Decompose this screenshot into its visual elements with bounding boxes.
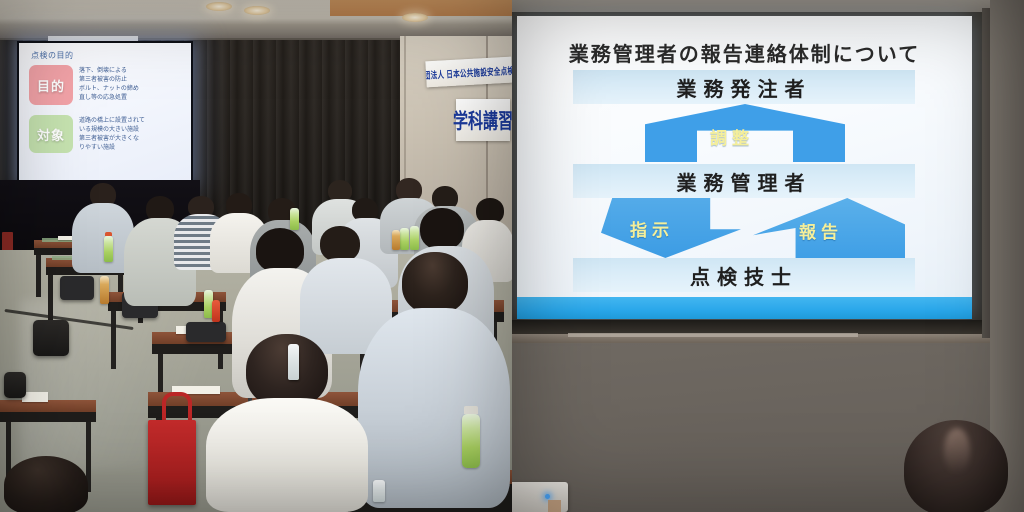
projection-screen-wide: 点検の目的 目的 落下、倒壊による 第三者被害の防止 ボルト、ナットの締め 直し… bbox=[17, 41, 193, 185]
slide-title: 業務管理者の報告連絡体制について bbox=[517, 38, 972, 67]
course-sign: 学科講習 bbox=[456, 99, 510, 141]
drink-bottle bbox=[400, 228, 409, 250]
attendee-head bbox=[256, 228, 304, 272]
organization-banner-text: 一般社団法人 日本公共施設安全点検研究所 bbox=[425, 61, 512, 83]
slide-footer-band bbox=[517, 297, 972, 319]
left-photo-panel: 点検の目的 目的 落下、倒壊による 第三者被害の防止 ボルト、ナットの締め 直し… bbox=[0, 0, 512, 512]
arrow-label-adjust: 調整 bbox=[710, 124, 754, 149]
bottle-cap bbox=[464, 406, 478, 414]
drink-bottle bbox=[410, 226, 419, 250]
arrow-label-report: 報告 bbox=[799, 218, 843, 243]
downlight-icon bbox=[244, 6, 270, 15]
attendee-head bbox=[420, 208, 464, 250]
desk-leg bbox=[111, 311, 116, 369]
projection-screen-closeup: 業務管理者の報告連絡体制について 業務発注者 調整 業務管理者 指示 報告 点検… bbox=[517, 16, 972, 319]
downlight-icon bbox=[206, 2, 232, 11]
attendee-body bbox=[206, 398, 368, 512]
slide-purpose-body: 落下、倒壊による 第三者被害の防止 ボルト、ナットの締め 直し等の応急処置 bbox=[79, 67, 139, 103]
tote-bag bbox=[148, 420, 196, 505]
flow-node-orderer: 業務発注者 bbox=[573, 70, 915, 104]
right-photo-panel: 業務管理者の報告連絡体制について 業務発注者 調整 業務管理者 指示 報告 点検… bbox=[512, 0, 1024, 512]
attendee-head bbox=[4, 456, 88, 512]
downlight-icon bbox=[402, 13, 428, 22]
flow-node-inspector: 点検技士 bbox=[573, 258, 915, 292]
slide-purpose: 点検の目的 目的 落下、倒壊による 第三者被害の防止 ボルト、ナットの締め 直し… bbox=[19, 43, 191, 183]
attendee-head bbox=[246, 334, 328, 408]
bag bbox=[4, 372, 26, 398]
slide-purpose-title: 点検の目的 bbox=[31, 50, 74, 61]
small-object bbox=[548, 500, 561, 512]
desk bbox=[0, 400, 96, 412]
slide-target-body: 道路の橋上に設置されて いる規模の大きい施設 第三者被害が大きくな りやすい施設 bbox=[79, 117, 145, 153]
drink-bottle bbox=[104, 236, 113, 262]
attendee-head bbox=[402, 252, 468, 314]
attendee-head-highlight bbox=[944, 428, 970, 474]
attendee-body bbox=[358, 308, 510, 508]
flow-node-manager: 業務管理者 bbox=[573, 164, 915, 198]
bottle-cap bbox=[105, 232, 112, 236]
chair[interactable] bbox=[60, 276, 94, 300]
bag bbox=[33, 320, 69, 356]
arrow-label-instruction: 指示 bbox=[630, 216, 674, 241]
wall-ledge-highlight bbox=[568, 333, 858, 337]
drink-bottle bbox=[288, 344, 299, 380]
drink-bottle bbox=[462, 414, 480, 468]
drink-bottle bbox=[290, 208, 299, 230]
desk-skirt bbox=[0, 412, 96, 422]
slide-tag-target: 対象 bbox=[29, 115, 73, 153]
led-indicator-icon bbox=[545, 494, 550, 499]
drink-bottle bbox=[373, 480, 385, 502]
slide-tag-purpose: 目的 bbox=[29, 65, 73, 105]
drink-bottle bbox=[100, 276, 109, 304]
desk-leg bbox=[48, 275, 53, 323]
desk-leg bbox=[36, 255, 41, 297]
right-wall-panel bbox=[990, 0, 1024, 512]
drink-bottle bbox=[212, 300, 220, 322]
attendee-head bbox=[320, 226, 360, 262]
chair[interactable] bbox=[186, 322, 226, 342]
drink-bottle bbox=[392, 230, 400, 250]
organization-banner: 一般社団法人 日本公共施設安全点検研究所 bbox=[425, 57, 512, 88]
course-sign-text: 学科講習 bbox=[453, 106, 512, 134]
composite-stage: 点検の目的 目的 落下、倒壊による 第三者被害の防止 ボルト、ナットの締め 直し… bbox=[0, 0, 1024, 512]
